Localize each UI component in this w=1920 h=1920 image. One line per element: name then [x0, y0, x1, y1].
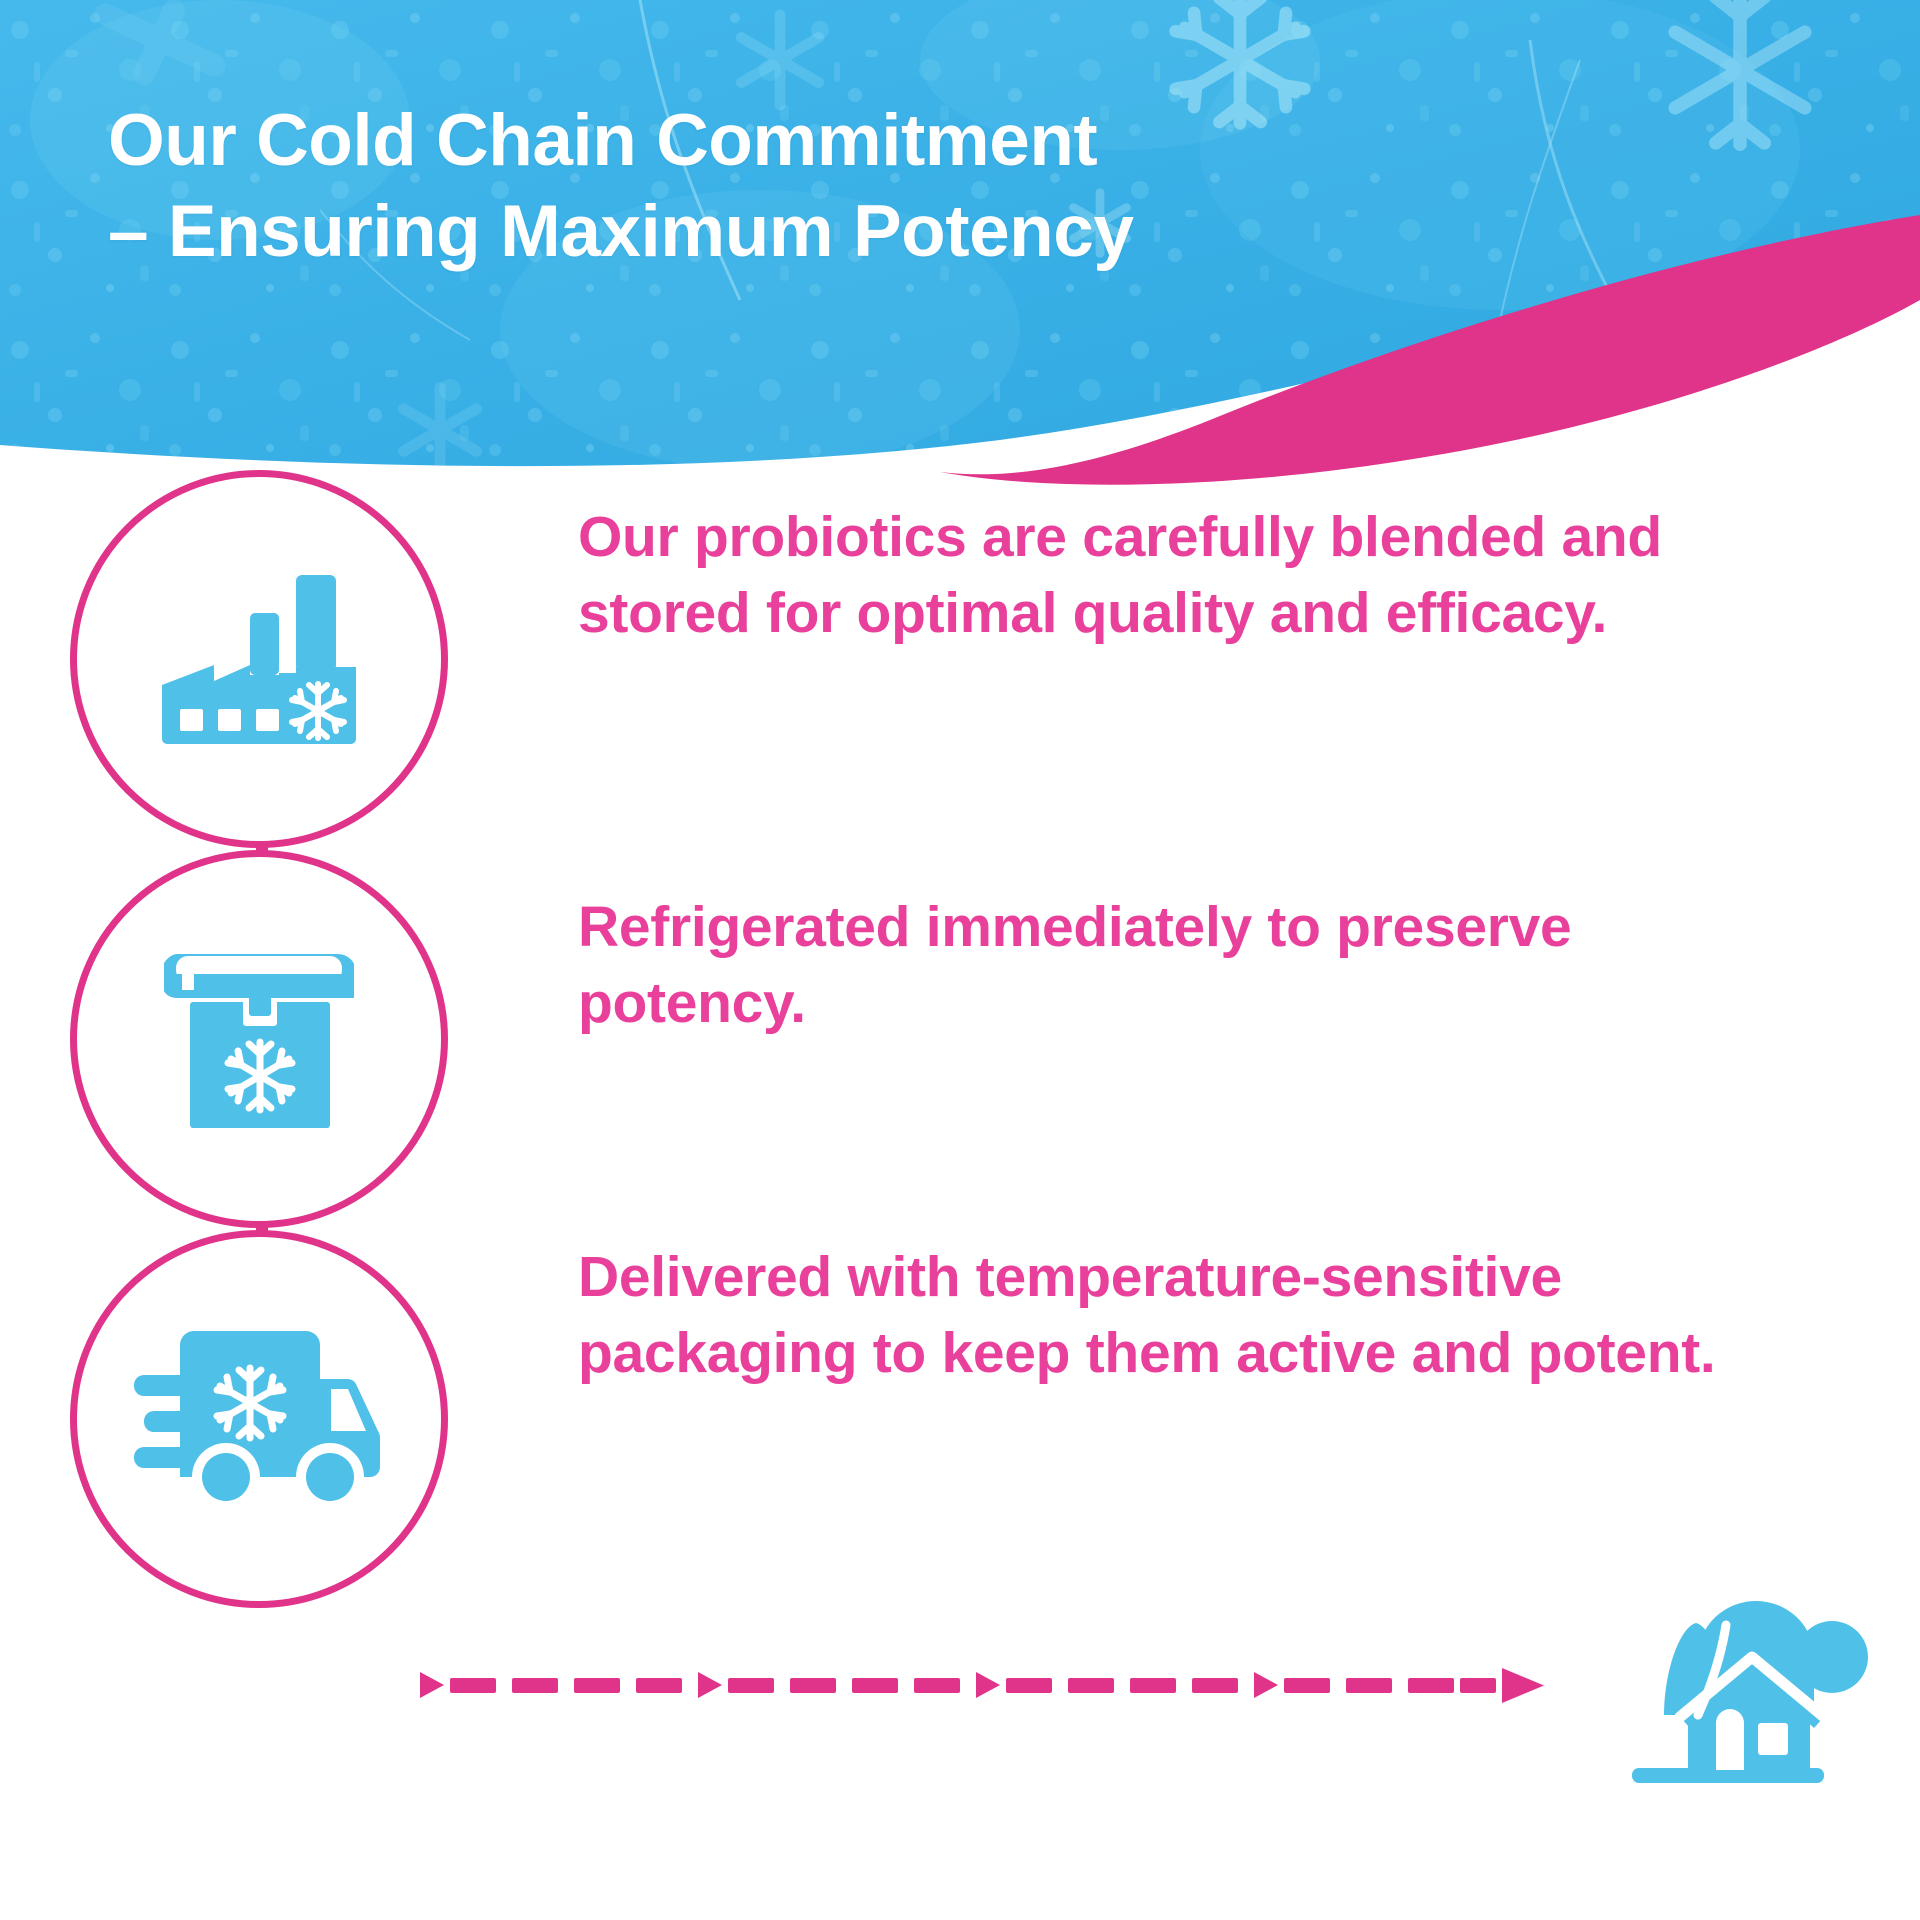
step-2-icon-circle[interactable]: [70, 850, 448, 1228]
infographic-root: Our Cold Chain Commitment – Ensuring Max…: [0, 0, 1920, 1920]
delivery-truck-snowflake-icon: [134, 1327, 384, 1512]
page-title-line-1: Our Cold Chain Commitment: [108, 100, 1097, 181]
factory-snowflake-icon: [154, 569, 364, 749]
step-2-text: Refrigerated immediately to preserve pot…: [578, 890, 1708, 1042]
header-banner: Our Cold Chain Commitment – Ensuring Max…: [0, 0, 1920, 500]
house-with-trees-icon: [1620, 1565, 1880, 1825]
step-1-text: Our probiotics are carefully blended and…: [578, 500, 1708, 652]
cooler-box-snowflake-icon: [164, 944, 354, 1134]
delivery-route-arrow: [420, 1650, 1545, 1720]
step-3-icon-circle[interactable]: [70, 1230, 448, 1608]
cold-chain-flow: Our probiotics are carefully blended and…: [0, 470, 1920, 1730]
step-1-icon-circle[interactable]: [70, 470, 448, 848]
step-3-text: Delivered with temperature-sensitive pac…: [578, 1240, 1718, 1392]
page-title-line-2: – Ensuring Maximum Potency: [108, 186, 1528, 277]
page-title: Our Cold Chain Commitment – Ensuring Max…: [108, 95, 1528, 278]
